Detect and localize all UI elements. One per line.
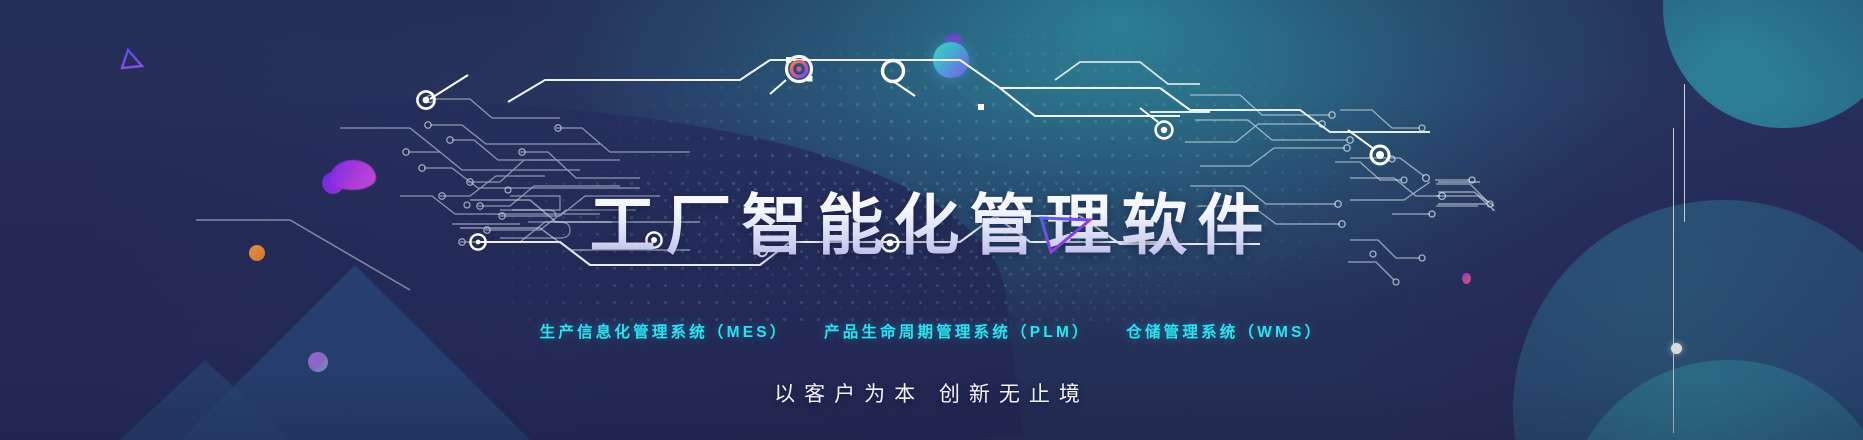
decor-front-layer — [0, 0, 1863, 440]
purple-triangle-outline-top-left — [122, 50, 142, 68]
hero-banner: 工厂智能化管理软件 生产信息化管理系统（MES） 产品生命周期管理系统（PLM）… — [0, 0, 1863, 440]
purple-triangle-outline-center — [1041, 218, 1090, 252]
